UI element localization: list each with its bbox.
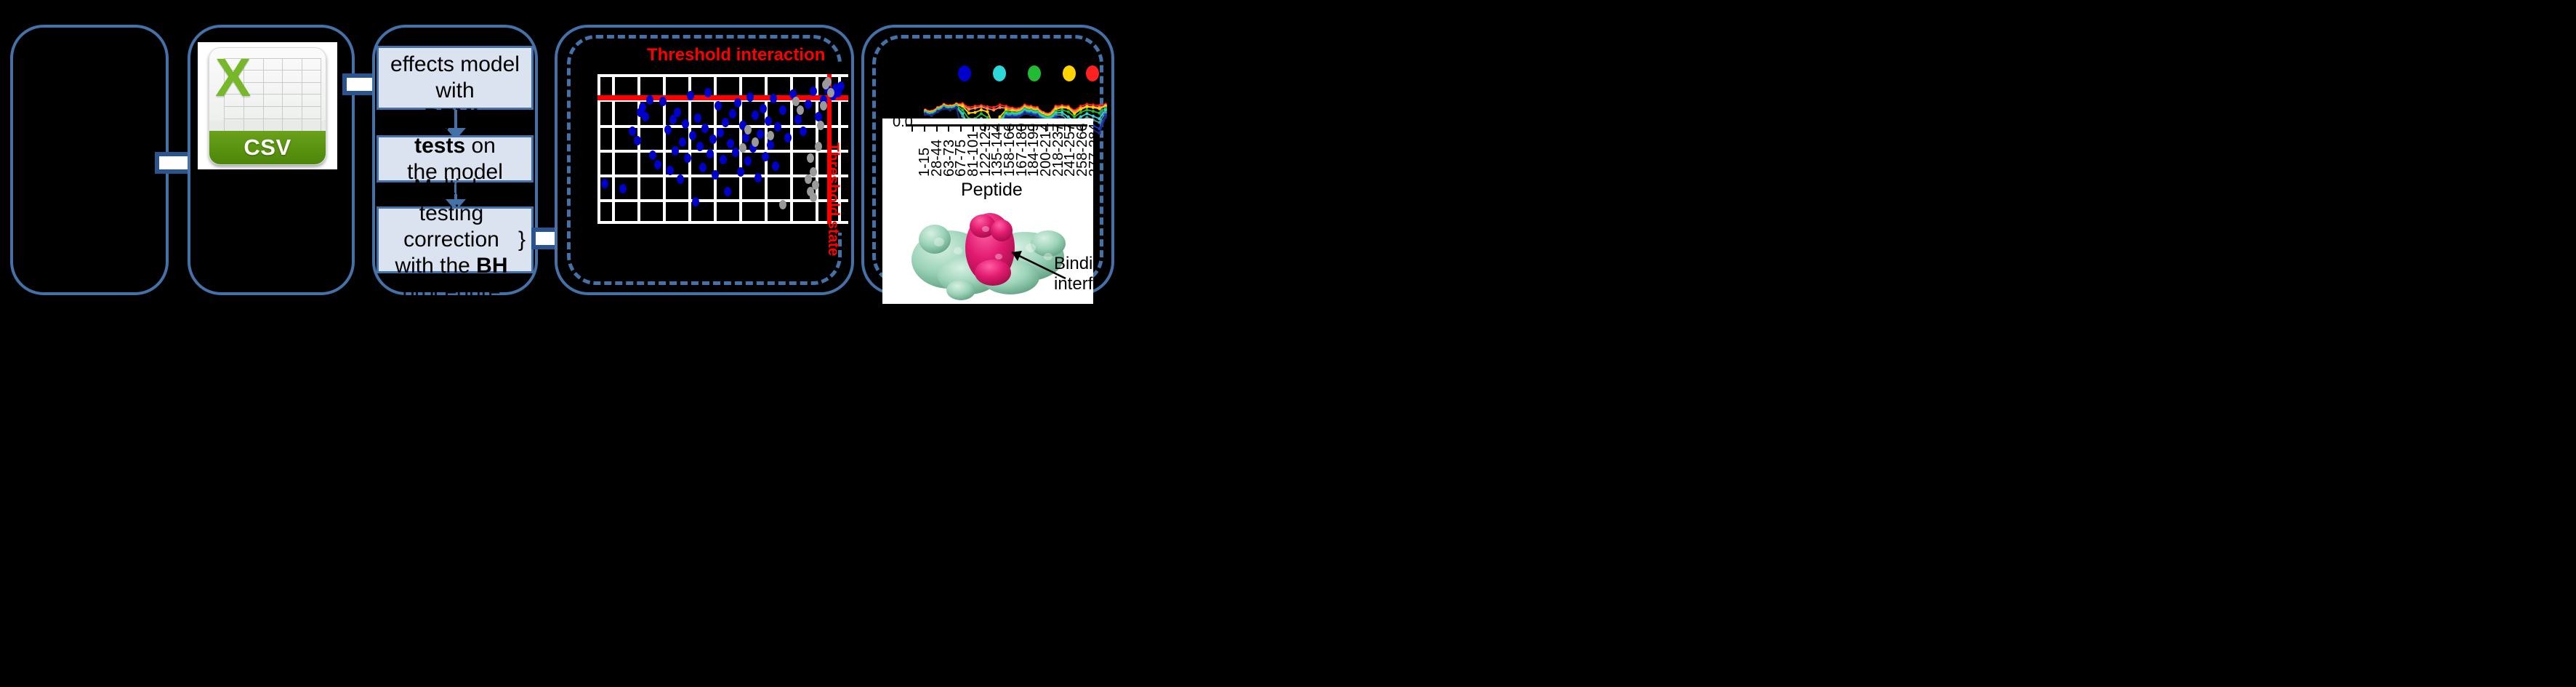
scatter-point [752, 137, 759, 147]
profile-marker [1092, 106, 1095, 109]
scatter-point [805, 174, 812, 184]
scatter-point [772, 161, 779, 171]
binding-line2: interface [1054, 274, 1093, 294]
scatter-point [765, 116, 772, 126]
step-box-reml[interactable]: Fit a linear mixed- effects model with R… [377, 46, 534, 110]
legend-dot-yellow [1063, 65, 1076, 81]
scatter-point [774, 122, 781, 132]
scatter-point [810, 193, 817, 202]
excel-x-letter: X [215, 51, 251, 105]
scatter-point [629, 126, 636, 136]
csv-format-label: CSV [243, 134, 291, 161]
profile-marker [961, 108, 964, 111]
profile-marker [973, 111, 976, 114]
scatter-point [752, 111, 759, 120]
scatter-point [754, 173, 762, 182]
structure-figure-card: 0.0 1-1528-4463-7367-7581-101122-129135-… [882, 118, 1093, 304]
scatter-point [817, 121, 824, 130]
profile-marker [1092, 110, 1095, 113]
profile-marker [980, 105, 983, 108]
scatter-point [739, 143, 746, 153]
csv-file-card: X CSV [198, 42, 337, 169]
threshold-interaction-label: Threshold interaction [647, 45, 825, 65]
profile-marker [1023, 112, 1026, 115]
step-bh-line1: Multiple testing [414, 175, 488, 225]
scatter-point [827, 88, 834, 97]
scatter-point [760, 104, 767, 113]
profile-marker [1060, 113, 1063, 116]
scatter-point [677, 174, 684, 184]
scatter-point [699, 163, 707, 172]
scatter-point [807, 153, 814, 163]
scatter-point [734, 98, 741, 108]
scatter-point [744, 125, 752, 134]
scatter-point [737, 167, 744, 177]
scatter-point-layer [597, 74, 848, 224]
scatter-point [805, 100, 812, 109]
scatter-point [715, 101, 722, 111]
scatter-point [692, 197, 699, 206]
scatter-point [667, 166, 674, 175]
scatter-point [746, 92, 754, 102]
profile-marker [1029, 113, 1032, 116]
profile-marker [1085, 105, 1088, 108]
profile-marker [980, 112, 983, 115]
scatter-point [672, 146, 679, 156]
scatter-point [797, 105, 804, 115]
scatter-point [767, 140, 774, 150]
scatter-point [712, 170, 719, 180]
profile-marker [924, 113, 927, 116]
scatter-point [767, 131, 774, 140]
x-axis-tick [936, 126, 938, 132]
profile-marker [936, 111, 939, 113]
scatter-point [664, 125, 672, 134]
panel-input [10, 25, 169, 295]
scatter-point [601, 179, 608, 188]
scatter-point [732, 148, 739, 157]
profile-marker [967, 111, 970, 114]
step-bh-bold: BH [476, 254, 507, 278]
profile-marker [943, 107, 946, 110]
profile-marker [961, 115, 964, 118]
scatter-point [687, 91, 694, 100]
profile-marker [930, 114, 933, 117]
scatter-point [709, 134, 717, 144]
x-axis-tick [948, 126, 949, 132]
scatter-point [704, 88, 712, 97]
scatter-point [815, 142, 822, 151]
profile-marker [955, 107, 958, 110]
scatter-point [639, 103, 646, 112]
scatter-point [724, 187, 731, 196]
legend-dot-green [1028, 65, 1041, 81]
profile-marker [1085, 112, 1088, 115]
scatter-point [757, 129, 764, 139]
profile-marker [1079, 111, 1082, 114]
binding-interface-annotation: Binding interface [1054, 254, 1093, 294]
profile-marker [1085, 108, 1088, 111]
scatter-point [720, 155, 727, 164]
scatter-point [729, 109, 736, 118]
profile-marker [986, 107, 989, 110]
scatter-point [820, 101, 827, 111]
scatter-point [794, 115, 802, 124]
legend-dot-blue [958, 65, 971, 81]
scatter-point [682, 119, 689, 129]
scatter-point [659, 97, 667, 106]
profile-marker [1092, 115, 1095, 118]
scatter-point [679, 137, 686, 147]
scatter-point [689, 131, 696, 140]
profile-marker [980, 108, 983, 111]
profile-marker [967, 108, 970, 111]
x-axis-category-label: 277-284 [1087, 124, 1093, 177]
x-axis-tick [911, 126, 913, 132]
scatter-point [779, 105, 786, 115]
x-axis-tick [960, 126, 962, 132]
scatter-point [812, 180, 819, 190]
scatter-point [779, 200, 786, 209]
step-wald-post: on [465, 134, 496, 158]
profile-marker [1073, 112, 1076, 115]
threshold-scatter-plot: Threshold interaction Threshold state [597, 64, 848, 233]
scatter-point [770, 94, 777, 103]
scatter-point [654, 160, 661, 169]
scatter-point [701, 124, 709, 133]
profile-marker [1036, 115, 1039, 118]
profile-marker [973, 107, 976, 110]
scatter-point [815, 112, 822, 121]
scatter-point [784, 133, 792, 142]
step-bh-post: procedure [402, 280, 500, 304]
profile-marker [1067, 111, 1070, 113]
profile-marker [1079, 108, 1082, 111]
step-bh-pre: with the [395, 254, 476, 278]
scatter-point [696, 142, 704, 151]
x-axis-tick [924, 126, 925, 132]
scatter-point [727, 139, 734, 148]
profile-marker [999, 106, 1002, 109]
line-chart-legend [898, 64, 1108, 83]
step-reml-line2: effects model with [390, 52, 520, 103]
scatter-point [762, 152, 769, 161]
profile-marker [1098, 121, 1100, 124]
profile-marker [961, 105, 964, 108]
csv-format-band: CSV [209, 131, 326, 164]
profile-marker [1098, 132, 1100, 134]
scatter-point [792, 97, 800, 106]
scatter-point [810, 87, 817, 96]
scatter-point [717, 128, 724, 137]
profile-marker [1104, 116, 1107, 118]
step-reml-line1: Fit a linear mixed- [404, 0, 506, 50]
profile-marker [992, 108, 995, 111]
csv-file-icon: X CSV [209, 47, 326, 165]
scatter-point [810, 167, 817, 177]
scatter-point [722, 118, 729, 127]
scatter-point [684, 153, 691, 163]
scatter-point [694, 113, 701, 123]
scatter-point [674, 108, 681, 117]
profile-marker [1067, 107, 1070, 110]
scatter-point [837, 81, 845, 91]
step-box-bh[interactable]: Multiple testing correction with the BH … [377, 206, 534, 273]
profile-marker [1098, 111, 1100, 114]
scatter-point [649, 150, 656, 160]
legend-dot-red [1086, 65, 1099, 81]
x-axis-category-labels: 1-1528-4463-7367-7581-101122-129135-1441… [906, 133, 1087, 178]
scatter-point [800, 126, 807, 136]
legend-dot-cyan [993, 65, 1006, 81]
scatter-point [642, 112, 649, 121]
binding-line1: Binding [1054, 254, 1093, 274]
profile-marker [949, 108, 951, 111]
profile-marker [1098, 107, 1100, 110]
scatter-point [707, 149, 714, 158]
scatter-point [634, 136, 641, 145]
scatter-point [824, 77, 832, 87]
scatter-point [744, 156, 752, 166]
step-wald-pre: Apply [399, 108, 459, 132]
scatter-point [646, 95, 653, 105]
step-bh-line2: correction [403, 228, 499, 252]
profile-marker [986, 111, 989, 113]
scatter-point [619, 184, 627, 193]
